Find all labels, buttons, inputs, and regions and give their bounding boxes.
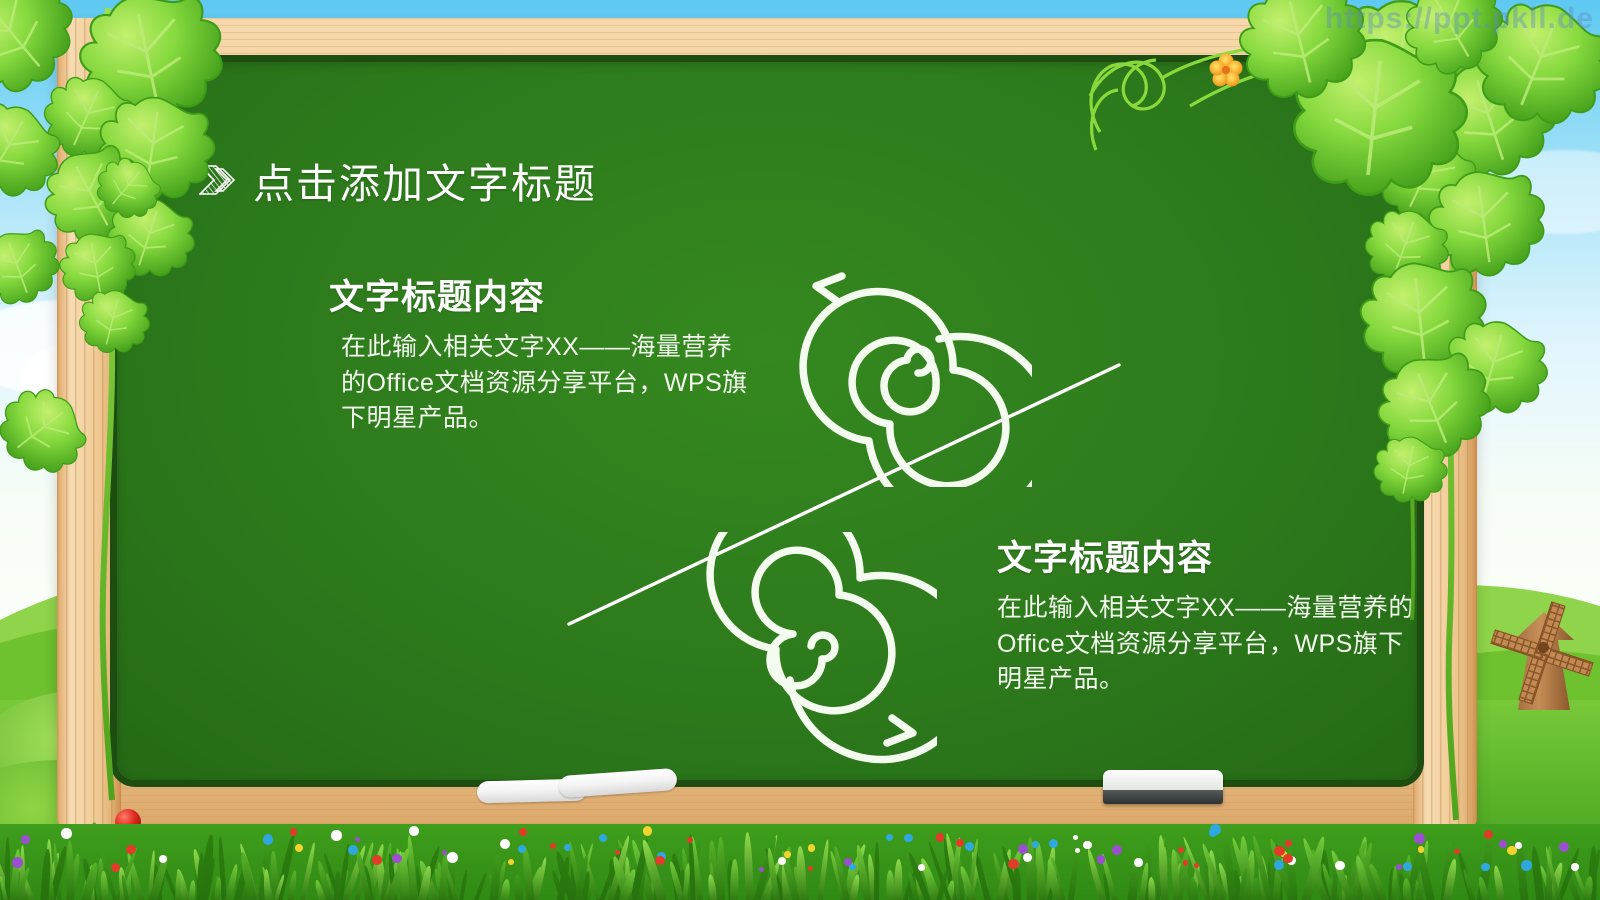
grass-blade bbox=[263, 869, 271, 900]
flower-petal bbox=[918, 864, 925, 871]
flower-petal bbox=[655, 856, 664, 865]
flower-petal bbox=[409, 826, 419, 836]
grass-blade bbox=[717, 837, 725, 900]
text-block-2-heading: 文字标题内容 bbox=[997, 530, 1417, 581]
wooden-frame-right bbox=[1413, 18, 1477, 828]
flower-petal bbox=[1559, 842, 1569, 852]
flower-petal bbox=[290, 828, 298, 836]
flower-petal bbox=[263, 834, 274, 845]
grass-blade bbox=[1067, 847, 1081, 900]
grass-blade bbox=[817, 839, 830, 900]
flower-petal bbox=[1571, 863, 1578, 870]
chalkboard-surface[interactable]: 点击添加文字标题 bbox=[117, 62, 1417, 780]
flower-petal bbox=[1499, 840, 1507, 848]
flower-petal bbox=[355, 837, 360, 842]
flower-petal bbox=[1194, 863, 1199, 868]
flower-petal bbox=[550, 843, 556, 849]
grass-blade bbox=[472, 872, 488, 900]
flower-petal bbox=[348, 845, 358, 855]
flower-petal bbox=[500, 839, 510, 849]
flower-petal bbox=[1075, 848, 1080, 853]
flower-petal bbox=[599, 834, 607, 842]
grass-blade bbox=[874, 842, 879, 900]
flower-petal bbox=[295, 844, 303, 852]
grass-blade bbox=[287, 869, 298, 900]
flower-petal bbox=[904, 834, 912, 842]
watermark-text: https://ppt.pkll.de bbox=[1325, 2, 1594, 36]
text-block-1-heading: 文字标题内容 bbox=[329, 269, 759, 320]
text-block-1[interactable]: 文字标题内容 在此输入相关文字XX——海量营养的Office文档资源分享平台，W… bbox=[329, 269, 759, 437]
flower-petal bbox=[1134, 858, 1143, 867]
grass-blade bbox=[894, 859, 902, 900]
windmill-icon bbox=[1488, 590, 1598, 720]
flower-petal bbox=[1183, 860, 1188, 865]
grass-blade bbox=[1493, 865, 1507, 900]
flower-petal bbox=[111, 863, 120, 872]
flower-petal bbox=[372, 855, 382, 865]
blackboard-eraser[interactable] bbox=[1103, 770, 1223, 804]
eraser-top bbox=[1103, 770, 1223, 790]
grass-blade bbox=[886, 870, 895, 900]
flower-petal bbox=[508, 859, 514, 865]
flower-petal bbox=[1049, 839, 1059, 849]
text-block-2-body: 在此输入相关文字XX——海量营养的Office文档资源分享平台，WPS旗下明星产… bbox=[997, 591, 1417, 698]
flower-petal bbox=[61, 828, 72, 839]
flower-petal bbox=[784, 851, 790, 857]
spiral-arrow-up-left-icon bbox=[792, 247, 1032, 487]
flower-petal bbox=[518, 845, 526, 853]
flower-petal bbox=[447, 852, 458, 863]
grass-blade bbox=[513, 873, 524, 900]
flower-petal bbox=[1112, 845, 1122, 855]
text-block-2[interactable]: 文字标题内容 在此输入相关文字XX——海量营养的Office文档资源分享平台，W… bbox=[997, 530, 1417, 698]
flower-petal bbox=[519, 828, 528, 837]
chalkboard-panel: 点击添加文字标题 bbox=[57, 18, 1477, 828]
flower-petal bbox=[1274, 846, 1284, 856]
spiral-arrow-down-right-icon bbox=[697, 532, 937, 772]
flower-petal bbox=[12, 857, 23, 868]
flower-petal bbox=[21, 835, 29, 843]
grass-blade bbox=[796, 846, 807, 900]
flower-petal bbox=[1521, 860, 1532, 871]
grass-band bbox=[0, 824, 1600, 900]
flower-petal bbox=[1481, 863, 1489, 871]
flower-petal bbox=[1073, 835, 1078, 840]
flower-petal bbox=[1083, 841, 1092, 850]
flower-petal bbox=[936, 833, 945, 842]
eraser-bottom bbox=[1103, 790, 1223, 804]
grass-blade bbox=[67, 840, 75, 900]
flower-petal bbox=[1097, 855, 1105, 863]
wooden-frame-left bbox=[57, 18, 121, 828]
flower-petal bbox=[331, 830, 341, 840]
flower-petal bbox=[1209, 828, 1218, 837]
grass-blade bbox=[458, 869, 469, 900]
flower-petal bbox=[1335, 861, 1344, 870]
flower-petal bbox=[1274, 860, 1284, 870]
slide-title[interactable]: 点击添加文字标题 bbox=[199, 150, 597, 210]
flower-petal bbox=[1414, 833, 1425, 844]
flower-petal bbox=[1285, 840, 1292, 847]
flower-petal bbox=[1507, 846, 1517, 856]
flower-petal bbox=[1178, 847, 1184, 853]
flower-petal bbox=[1032, 841, 1038, 847]
flower-petal bbox=[849, 864, 856, 871]
slide-canvas: 点击添加文字标题 bbox=[0, 0, 1600, 900]
grass-blade bbox=[521, 848, 535, 900]
text-block-1-body: 在此输入相关文字XX——海量营养的Office文档资源分享平台，WPS旗下明星产… bbox=[341, 330, 751, 437]
flower-petal bbox=[956, 839, 964, 847]
flower-petal bbox=[886, 834, 893, 841]
flower-petal bbox=[1396, 864, 1402, 870]
grass-blade bbox=[730, 859, 738, 900]
double-chevron-right-icon bbox=[199, 162, 239, 198]
flower-petal bbox=[643, 826, 652, 835]
flower-petal bbox=[808, 844, 816, 852]
windmill-hub bbox=[1538, 642, 1549, 653]
flower-petal bbox=[126, 845, 136, 855]
flower-petal bbox=[392, 854, 402, 864]
slide-title-text: 点击添加文字标题 bbox=[253, 150, 597, 210]
grass-blade bbox=[744, 832, 755, 900]
flower-petal bbox=[808, 866, 813, 871]
flower-petal bbox=[1454, 849, 1459, 854]
